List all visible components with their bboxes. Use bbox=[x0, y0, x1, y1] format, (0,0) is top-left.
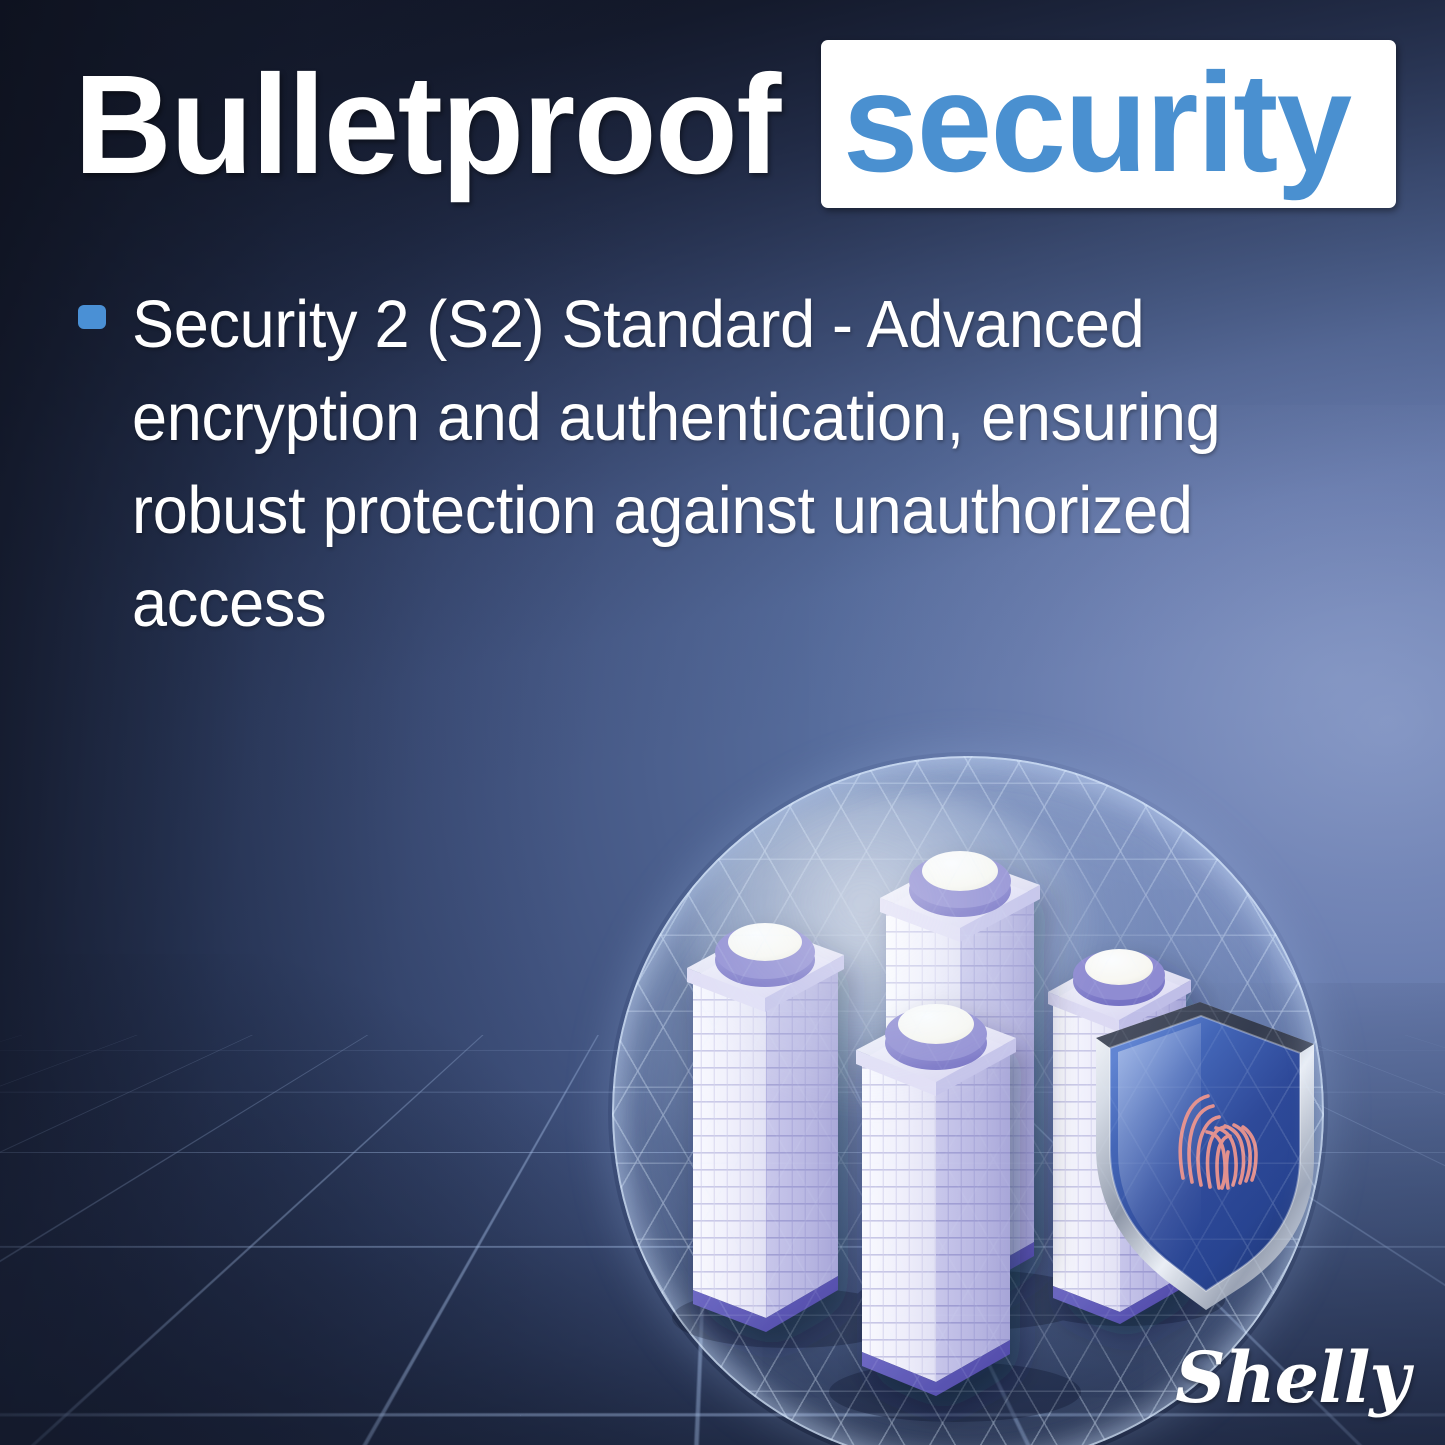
square-bullet-icon bbox=[78, 305, 106, 329]
headline-word-highlight: security bbox=[843, 66, 1351, 179]
headline-word-plain: Bulletproof bbox=[74, 54, 780, 195]
headline-highlight-chip: security bbox=[821, 40, 1396, 209]
headline: Bulletproof security bbox=[74, 36, 1396, 212]
shelly-logo: Shelly bbox=[1175, 1336, 1409, 1419]
bullet-list: Security 2 (S2) Standard - Advanced encr… bbox=[78, 278, 1378, 650]
bullet-item-text: Security 2 (S2) Standard - Advanced encr… bbox=[132, 278, 1382, 650]
promo-card: Bulletproof security Security 2 (S2) Sta… bbox=[0, 0, 1445, 1445]
